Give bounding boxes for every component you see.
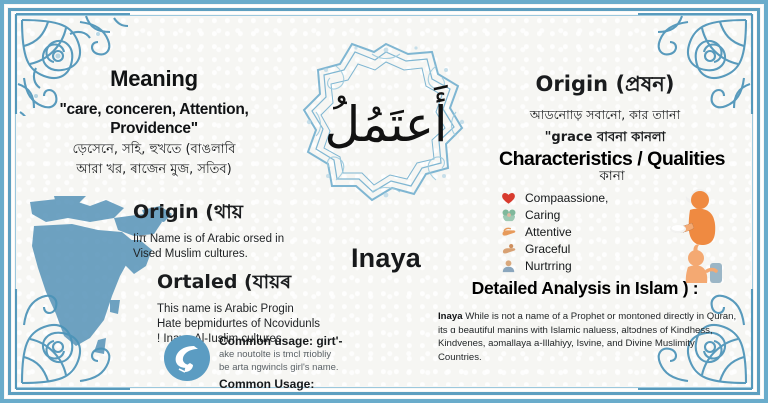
common-usage-line-2: be arta ngwincls girl's name.	[219, 362, 343, 374]
origin-left-heading: Origin (থায়	[133, 198, 323, 230]
origin-left-line-2: Vised Muslim cultures.	[133, 247, 323, 262]
quality-label: Attentive	[525, 225, 572, 239]
origin-left-section: Origin (থায় Iiπ Name is of Arabic orsed…	[133, 198, 323, 262]
origin-right-bengali-line-2: "grace বাবনা কানলা	[480, 128, 730, 149]
quality-label: Graceful	[525, 242, 570, 256]
common-usage-title: Common usage: girt'-	[219, 334, 343, 348]
ortaled-line-2: Hate bepmidurtes of Ncovidunls	[157, 317, 357, 332]
meaning-section: Meaning "care, conceren, Attention, Prov…	[36, 66, 272, 179]
caring-hands-icon	[500, 208, 517, 223]
giving-hand-icon	[500, 242, 517, 257]
mother-and-child-icon	[666, 183, 742, 287]
common-usage-line-1: ake noutolte is tmcl πiobliy	[219, 349, 343, 361]
origin-right-section: Origin (প্রষন) আডনোাড় সবানো, কার তাানা …	[480, 68, 730, 149]
meaning-bengali-line-1: ড়েসেনে, সহি, হুখতে (বাঙলাবি	[36, 142, 272, 159]
quality-label: Nurtrring	[525, 259, 572, 273]
analysis-paragraph-text: While is not a name of a Prophet or mont…	[438, 311, 736, 363]
infographic-poster: أَعتَمُلُ Inaya Meaning "care, conceren,…	[0, 0, 768, 403]
common-usage-title-2: Common Usage:	[219, 377, 343, 391]
analysis-heading: Detailed Analysis in Islam ) :	[426, 278, 744, 299]
meaning-bengali-line-2: আরা খর, ৰাজেন মুজ, সতিব)	[36, 162, 272, 179]
crescent-leaf-icon	[164, 335, 210, 381]
characteristics-heading-bengali: কানা	[482, 170, 742, 184]
quality-label: Caring	[525, 208, 560, 222]
person-icon	[500, 259, 517, 274]
corner-ornament-bottom-left	[14, 287, 132, 391]
analysis-section: Detailed Analysis in Islam ) : Inaya Whi…	[426, 278, 744, 364]
name-arabic-calligraphy: أَعتَمُلُ	[296, 40, 476, 222]
quality-label: Compaassione,	[525, 191, 608, 205]
heart-icon	[500, 191, 517, 206]
common-usage-section: Common usage: girt'- ake noutolte is tmc…	[164, 333, 379, 391]
origin-left-line-1: Iiπ Name is of Arabic orsed in	[133, 232, 323, 247]
ortaled-line-1: This name is Arabic Progin	[157, 302, 357, 317]
ortaled-heading: Ortaled (যায়ৰ	[157, 268, 357, 300]
analysis-paragraph: Inaya While is not a name of a Prophet o…	[426, 310, 744, 364]
origin-right-heading: Origin (প্রষন)	[480, 68, 730, 103]
analysis-lead-name: Inaya	[438, 311, 463, 322]
origin-right-bengali-line-1: আডনোাড় সবানো, কার তাানা	[480, 107, 730, 127]
open-hand-icon	[500, 225, 517, 240]
meaning-quote: "care, conceren, Attention, Providence"	[36, 101, 272, 139]
meaning-heading: Meaning	[36, 66, 272, 92]
